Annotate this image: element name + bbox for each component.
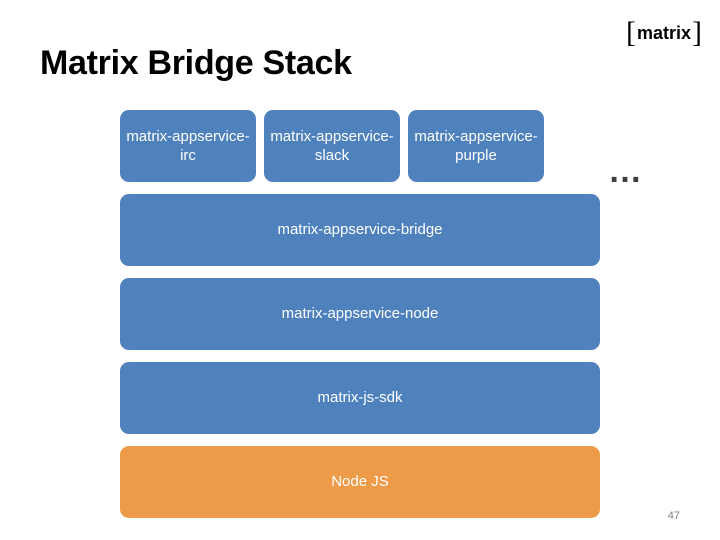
stack-box-appservice-irc: matrix-appservice-irc [120,110,256,182]
slide: [ matrix ] Matrix Bridge Stack matrix-ap… [0,0,720,540]
stack-layer-label: matrix-appservice-bridge [277,220,442,239]
stack-box-label: matrix-appservice-slack [270,127,394,165]
logo-left-bracket: [ [626,18,636,48]
stack-layer-label: matrix-js-sdk [318,388,403,407]
ellipsis-more-bridges: … [608,154,642,188]
page-title: Matrix Bridge Stack [40,44,352,83]
stack-layer-label: Node JS [331,472,389,491]
stack-box-label: matrix-appservice-purple [414,127,538,165]
stack-layer-node-js: Node JS [120,446,600,518]
stack-box-label: matrix-appservice-irc [126,127,250,165]
stack-top-row: matrix-appservice-irc matrix-appservice-… [120,110,600,182]
stack-layer-appservice-bridge: matrix-appservice-bridge [120,194,600,266]
bridge-stack-diagram: matrix-appservice-irc matrix-appservice-… [120,110,600,518]
stack-layer-label: matrix-appservice-node [282,304,439,323]
logo-right-bracket: ] [692,18,702,48]
logo-text: matrix [636,23,692,44]
stack-box-appservice-purple: matrix-appservice-purple [408,110,544,182]
stack-layer-js-sdk: matrix-js-sdk [120,362,600,434]
matrix-logo: [ matrix ] [626,18,702,48]
page-number: 47 [668,510,680,522]
stack-layer-appservice-node: matrix-appservice-node [120,278,600,350]
stack-box-appservice-slack: matrix-appservice-slack [264,110,400,182]
